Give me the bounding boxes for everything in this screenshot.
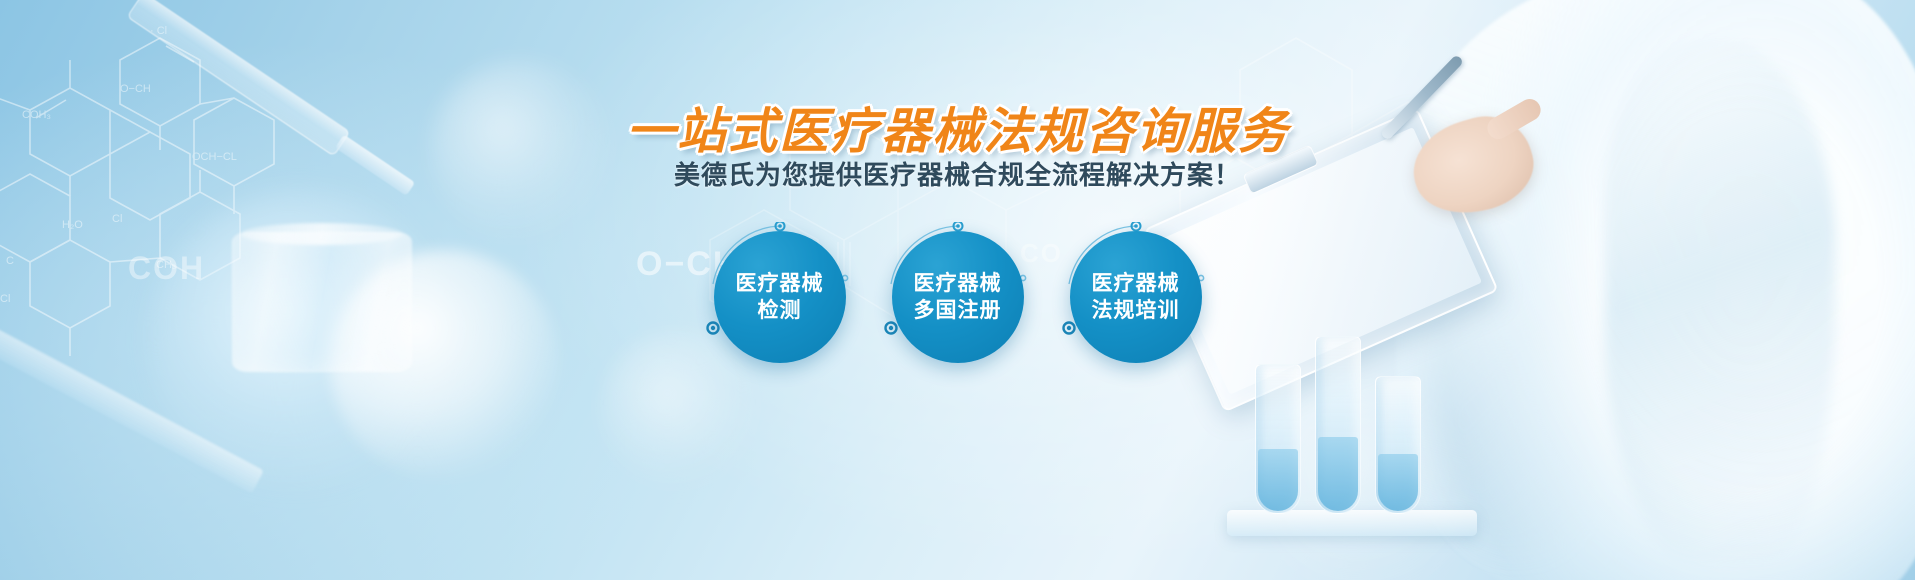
banner-subheadline: 美德氏为您提供医疗器械合规全流程解决方案！	[0, 155, 1915, 192]
molecule-label-cl-top2: · Cl	[150, 25, 167, 37]
test-tube	[1255, 364, 1301, 514]
banner-headline: 一站式医疗器械法规咨询服务	[0, 92, 1915, 163]
service-label-line1: 医疗器械	[914, 270, 1002, 297]
service-circle-body[interactable]: 医疗器械 法规培训	[1070, 231, 1202, 363]
service-label-line1: 医疗器械	[736, 270, 824, 297]
promo-banner: − Cl · Cl O−CH COH₃ OCH−CL H₂O Cl Cl CH₃…	[0, 0, 1915, 580]
service-label-line2: 检测	[758, 297, 802, 324]
test-tube-liquid	[1378, 454, 1418, 511]
test-tube-rack	[1227, 510, 1477, 536]
service-circle-registration[interactable]: 医疗器械 多国注册	[883, 222, 1033, 372]
service-label-line2: 法规培训	[1092, 297, 1180, 324]
test-tube-liquid	[1258, 449, 1298, 511]
service-circle-body[interactable]: 医疗器械 检测	[714, 231, 846, 363]
service-label-line1: 医疗器械	[1092, 270, 1180, 297]
service-circle-body[interactable]: 医疗器械 多国注册	[892, 231, 1024, 363]
test-tube	[1375, 376, 1421, 514]
service-circle-training[interactable]: 医疗器械 法规培训	[1061, 222, 1211, 372]
service-circle-group: 医疗器械 检测 医疗器械 多国注册	[0, 222, 1915, 372]
bokeh-glow-right	[1260, 380, 1480, 580]
service-label-line2: 多国注册	[914, 297, 1002, 324]
test-tube-liquid	[1318, 437, 1358, 511]
service-circle-detection[interactable]: 医疗器械 检测	[705, 222, 855, 372]
